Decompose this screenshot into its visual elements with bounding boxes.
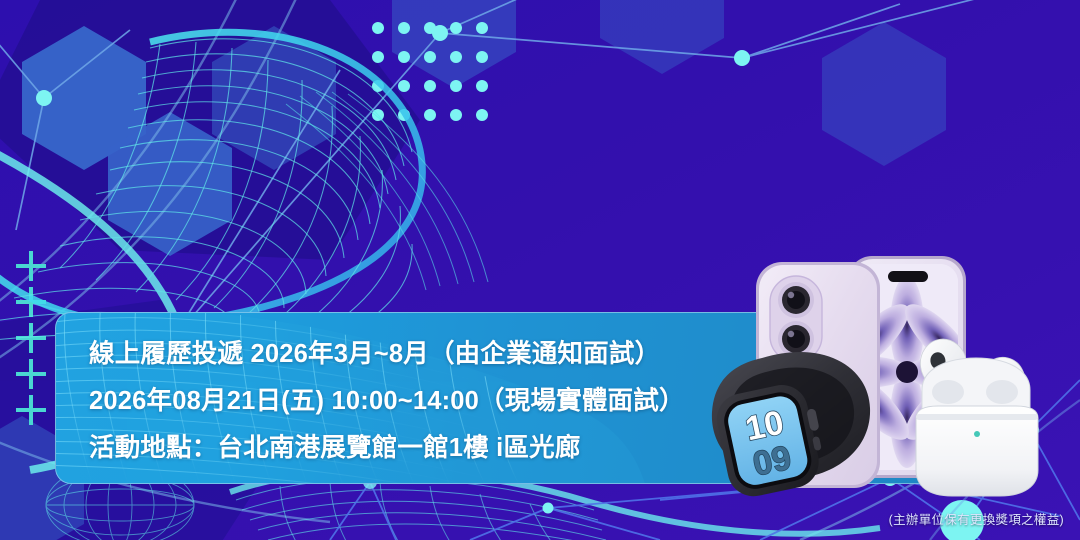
prize-disclaimer: (主辦單位保有更換獎項之權益): [889, 509, 1064, 528]
dynamic-island: [888, 271, 928, 282]
camera-lens-bottom: [778, 321, 814, 357]
status-led: [974, 431, 980, 437]
prize-products: 10 09: [700, 240, 1080, 520]
camera-lens-top: [778, 282, 814, 318]
event-banner-graphic: 線上履歷投遞 2026年3月~8月（由企業通知面試） 2026年08月21日(五…: [0, 0, 1080, 540]
airpods: [916, 336, 1038, 496]
watch-minute: 09: [750, 439, 795, 484]
